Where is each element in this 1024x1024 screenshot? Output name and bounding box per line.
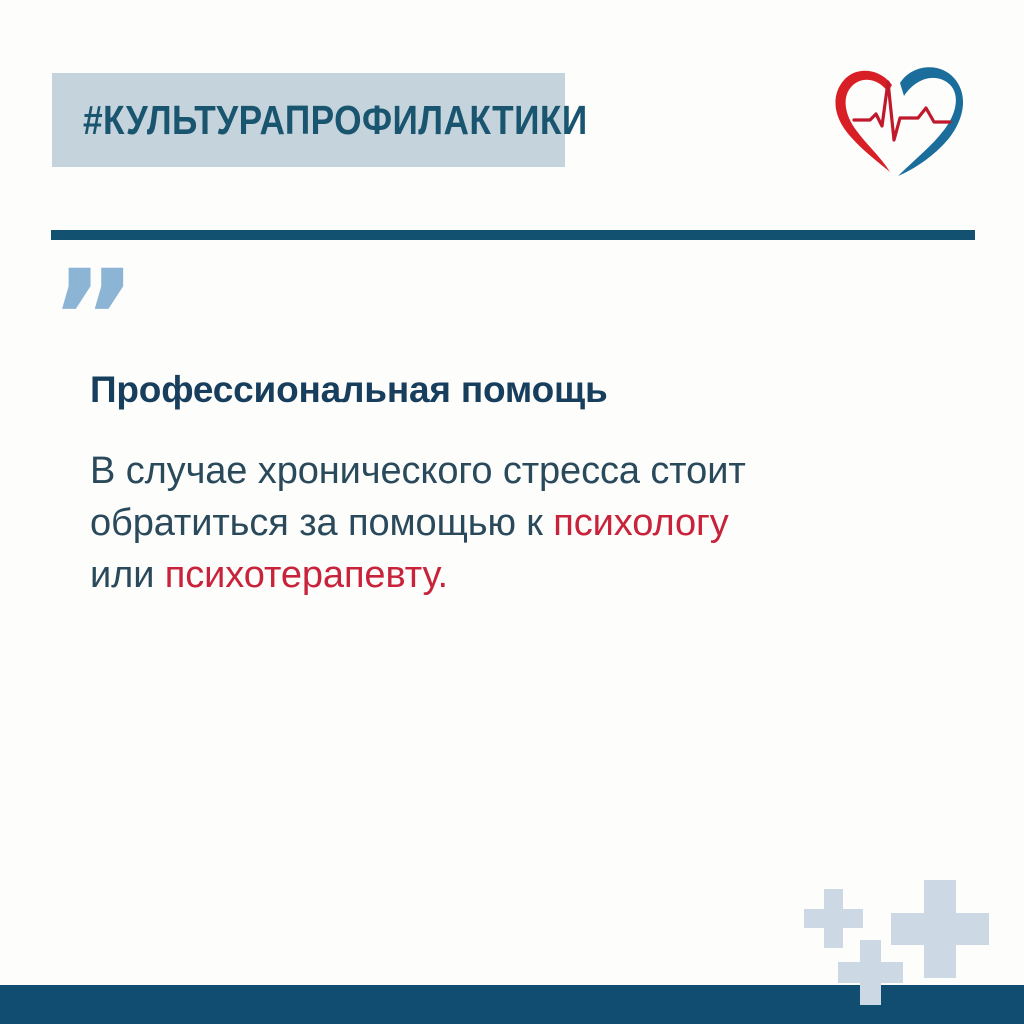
logo-ecg-line — [854, 82, 950, 140]
body-period: . — [438, 554, 448, 596]
logo-blue-crescent — [898, 67, 963, 176]
hashtag-label: #КУЛЬТУРАПРОФИЛАКТИКИ — [83, 100, 588, 141]
body-accent-psychologist: психологу — [553, 502, 728, 544]
hashtag-banner: #КУЛЬТУРАПРОФИЛАКТИКИ — [52, 73, 565, 167]
heart-ecg-logo — [822, 52, 974, 176]
text-block: Профессиональная помощь В случае хрониче… — [90, 368, 890, 601]
medical-cross-icon-bottom — [838, 940, 903, 1005]
infographic-card: #КУЛЬТУРАПРОФИЛАКТИКИ ” Профессиональная… — [0, 0, 1024, 1024]
medical-cross-icon-large — [891, 880, 989, 978]
page-title: Профессиональная помощь — [90, 368, 890, 412]
section-divider — [51, 230, 975, 240]
body-segment: или — [90, 554, 165, 596]
body-text: В случае хронического стресса стоит обра… — [90, 445, 780, 601]
body-accent-psychotherapist: психотерапевту — [165, 554, 438, 596]
quote-mark-icon: ” — [50, 253, 137, 385]
